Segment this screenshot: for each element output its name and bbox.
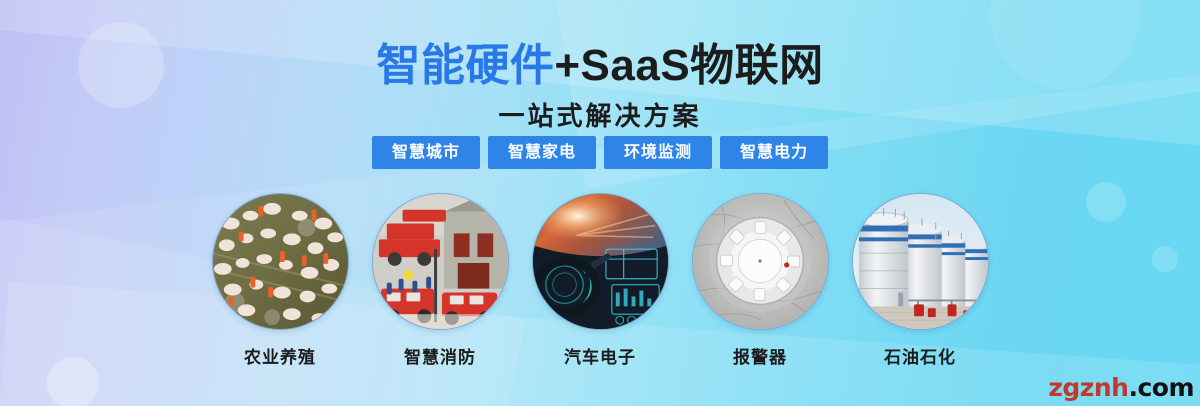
page-title: 智能硬件+SaaS物联网 xyxy=(0,42,1200,90)
watermark-name: zgznh xyxy=(1048,373,1128,402)
category-label-auto-electronics: 汽车电子 xyxy=(564,343,636,368)
tag-list: 智慧城市 智慧家电 环境监测 智慧电力 xyxy=(0,136,1200,169)
tag-smart-city[interactable]: 智慧城市 xyxy=(372,136,480,169)
category-label-alarm: 报警器 xyxy=(733,343,787,368)
category-label-fire-safety: 智慧消防 xyxy=(404,343,476,368)
category-item-alarm[interactable]: 报警器 xyxy=(692,193,829,368)
promo-banner: 智能硬件+SaaS物联网 一站式解决方案 智慧城市 智慧家电 环境监测 智慧电力 xyxy=(0,0,1200,406)
category-item-agriculture[interactable]: 农业养殖 xyxy=(212,193,349,368)
category-label-petrochemical: 石油石化 xyxy=(884,343,956,368)
title-highlight: 智能硬件 xyxy=(376,41,554,90)
oil-storage-tanks-photo-icon xyxy=(852,193,989,330)
watermark-tld: .com xyxy=(1128,373,1194,402)
fire-trucks-photo-icon xyxy=(372,193,509,330)
category-item-auto-electronics[interactable]: 汽车电子 xyxy=(532,193,669,368)
tag-smart-appliance[interactable]: 智慧家电 xyxy=(488,136,596,169)
page-subtitle: 一站式解决方案 xyxy=(0,96,1200,133)
tag-smart-power[interactable]: 智慧电力 xyxy=(720,136,828,169)
smoke-detector-photo-icon xyxy=(692,193,829,330)
title-rest: +SaaS物联网 xyxy=(554,41,823,90)
category-item-fire-safety[interactable]: 智慧消防 xyxy=(372,193,509,368)
car-dashboard-hud-photo-icon xyxy=(532,193,669,330)
category-list: 农业养殖 xyxy=(0,193,1200,368)
site-watermark: zgznh.com xyxy=(1048,373,1194,402)
category-label-agriculture: 农业养殖 xyxy=(244,343,316,368)
tag-environment-monitor[interactable]: 环境监测 xyxy=(604,136,712,169)
headline-block: 智能硬件+SaaS物联网 一站式解决方案 xyxy=(0,42,1200,133)
category-item-petrochemical[interactable]: 石油石化 xyxy=(852,193,989,368)
poultry-farm-photo-icon xyxy=(212,193,349,330)
